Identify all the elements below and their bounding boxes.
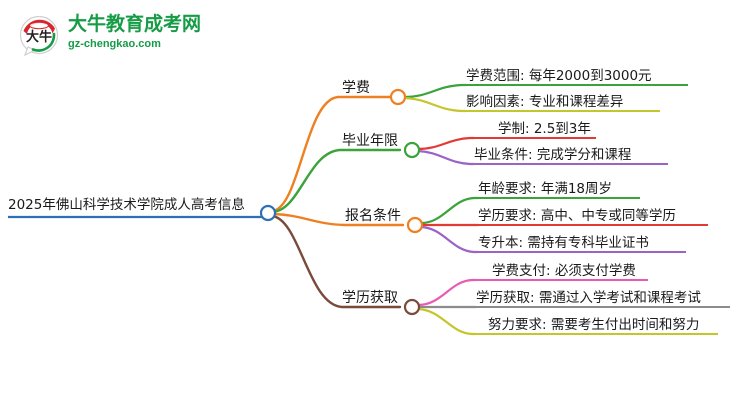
branch-node-circle-duration[interactable] — [405, 143, 419, 157]
leaf-label-req-education[interactable]: 学历要求: 高中、中专或同等学历 — [478, 210, 676, 224]
root-node-circle[interactable] — [261, 206, 275, 220]
leaf-wire-3-3 — [421, 227, 478, 252]
leaf-label-req-age[interactable]: 年龄要求: 年满18周岁 — [478, 183, 612, 197]
leaf-wire-1-2 — [404, 98, 466, 111]
branch-wire-duration — [272, 150, 400, 212]
branch-node-circle-degree[interactable] — [405, 300, 419, 314]
mindmap-canvas: 大牛 大牛教育成考网 gz-chengkao.com — [0, 0, 750, 410]
branch-wire-tuition — [272, 97, 392, 211]
branch-label-degree[interactable]: 学历获取 — [342, 291, 398, 305]
leaf-label-tuition-range[interactable]: 学费范围: 每年2000到3000元 — [466, 70, 652, 84]
leaf-label-degree-effort[interactable]: 努力要求: 需要考生付出时间和努力 — [488, 319, 699, 333]
leaf-wire-4-1 — [418, 280, 476, 305]
leaf-label-req-upgrade[interactable]: 专升本: 需持有专科毕业证书 — [478, 237, 649, 251]
leaf-wire-3-1 — [421, 198, 478, 223]
leaf-wire-4-3 — [418, 309, 476, 334]
branch-label-tuition[interactable]: 学费 — [342, 81, 370, 95]
leaf-label-duration-conditions[interactable]: 毕业条件: 完成学分和课程 — [474, 149, 631, 163]
root-node-label[interactable]: 2025年佛山科学技术学院成人高考信息 — [8, 199, 245, 213]
branch-label-duration[interactable]: 毕业年限 — [342, 134, 398, 148]
leaf-label-duration-system[interactable]: 学制: 2.5到3年 — [498, 123, 591, 137]
leaf-label-degree-obtain[interactable]: 学历获取: 需通过入学考试和课程考试 — [476, 292, 701, 306]
leaf-wire-2-1 — [418, 138, 474, 149]
leaf-wire-2-2 — [418, 151, 474, 164]
branch-label-requirements[interactable]: 报名条件 — [345, 209, 401, 223]
leaf-wire-1-1 — [404, 85, 466, 97]
leaf-label-tuition-factors[interactable]: 影响因素: 专业和课程差异 — [466, 96, 623, 110]
branch-node-circle-tuition[interactable] — [391, 90, 405, 104]
leaf-label-degree-payment[interactable]: 学费支付: 必须支付学费 — [492, 265, 636, 279]
branch-node-circle-requirements[interactable] — [408, 218, 422, 232]
